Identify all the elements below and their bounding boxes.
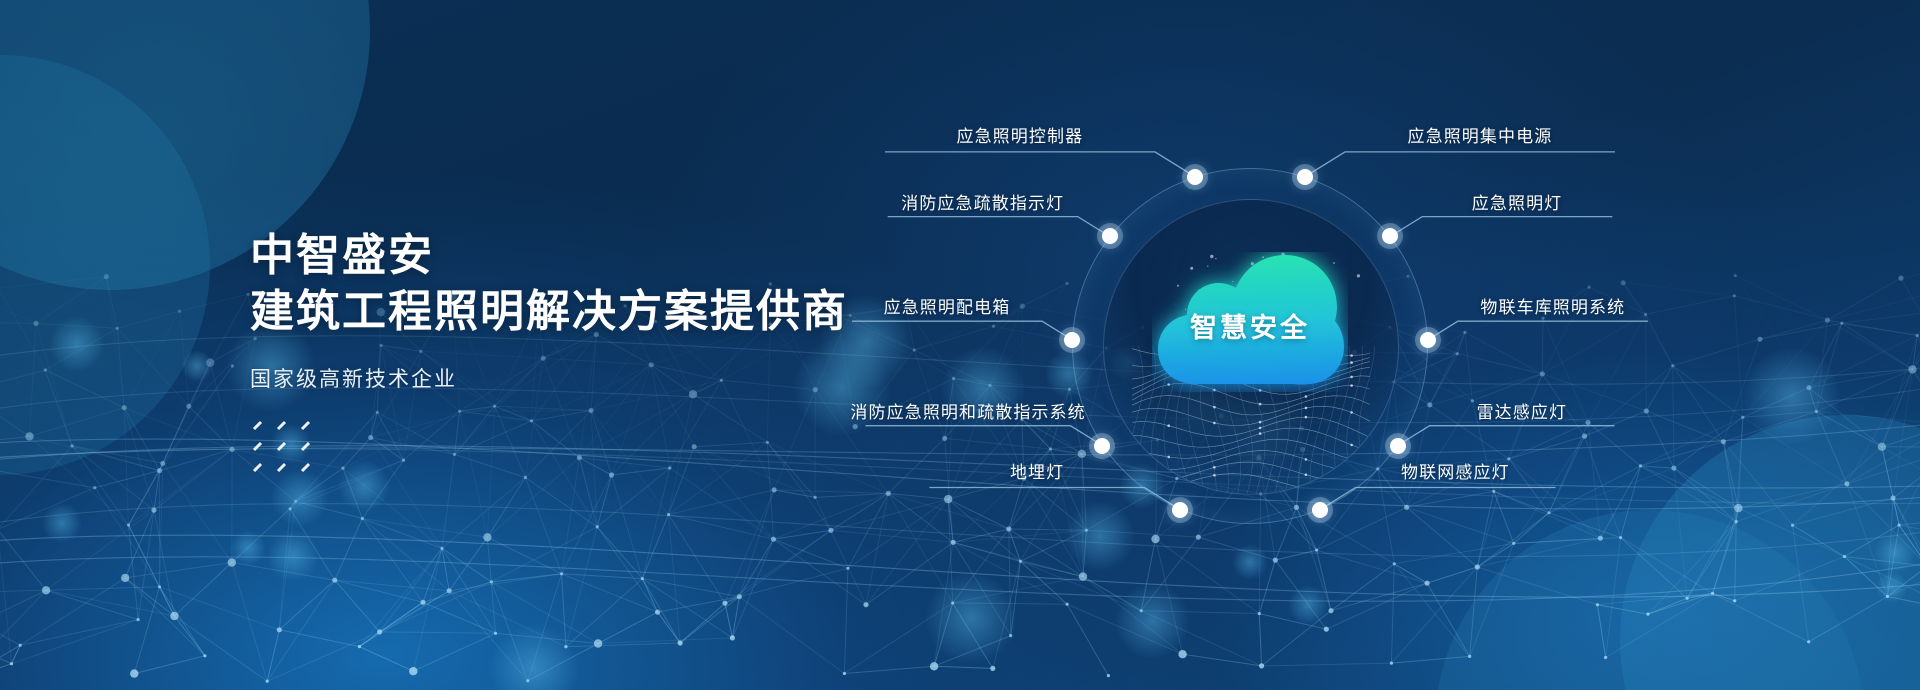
decor-dot-grid bbox=[252, 418, 322, 472]
decor-circle-bottom-right-small bbox=[1435, 510, 1865, 690]
callout-node-dot-emergency-lighting-controller[interactable] bbox=[1187, 169, 1203, 185]
callout-label-iot-garage-lighting-system[interactable]: 物联车库照明系统 bbox=[1480, 293, 1625, 318]
page-title-line2: 建筑工程照明解决方案提供商 bbox=[250, 284, 848, 340]
callout-node-dot-emergency-lighting-central-power[interactable] bbox=[1297, 169, 1313, 185]
callout-node-dot-iot-garage-lighting-system[interactable] bbox=[1420, 332, 1436, 348]
callout-label-emergency-lighting-distribution-box[interactable]: 应急照明配电箱 bbox=[884, 293, 1011, 318]
callout-label-emergency-lighting-central-power[interactable]: 应急照明集中电源 bbox=[1408, 122, 1553, 147]
callout-node-dot-radar-sensor-light[interactable] bbox=[1390, 438, 1406, 454]
callout-node-dot-fire-emergency-lighting-system[interactable] bbox=[1094, 438, 1110, 454]
callout-label-iot-sensor-light[interactable]: 物联网感应灯 bbox=[1401, 458, 1510, 483]
page-title-line1: 中智盛安 bbox=[250, 228, 848, 284]
cloud-badge: 智慧安全 bbox=[1152, 252, 1348, 392]
callout-label-emergency-lighting-controller[interactable]: 应急照明控制器 bbox=[956, 122, 1083, 147]
callout-label-fire-emergency-evacuation-sign-light[interactable]: 消防应急疏散指示灯 bbox=[901, 189, 1064, 214]
callout-label-radar-sensor-light[interactable]: 雷达感应灯 bbox=[1477, 398, 1568, 423]
headline-block: 中智盛安 建筑工程照明解决方案提供商 国家级高新技术企业 bbox=[250, 228, 848, 393]
callout-label-inground-light[interactable]: 地埋灯 bbox=[1010, 458, 1064, 483]
callout-node-dot-emergency-lighting-distribution-box[interactable] bbox=[1064, 332, 1080, 348]
callout-node-dot-iot-sensor-light[interactable] bbox=[1312, 502, 1328, 518]
page-subtitle: 国家级高新技术企业 bbox=[250, 363, 848, 393]
decor-circle-bottom-right-large bbox=[1620, 415, 1920, 690]
callout-label-fire-emergency-lighting-system[interactable]: 消防应急照明和疏散指示系统 bbox=[850, 398, 1085, 423]
cloud-shape-icon bbox=[1152, 252, 1348, 392]
hero-banner: 中智盛安 建筑工程照明解决方案提供商 国家级高新技术企业 bbox=[0, 0, 1920, 690]
callout-label-emergency-lighting-lamp[interactable]: 应急照明灯 bbox=[1472, 189, 1563, 214]
decor-circle-top-left-small bbox=[0, 55, 210, 475]
